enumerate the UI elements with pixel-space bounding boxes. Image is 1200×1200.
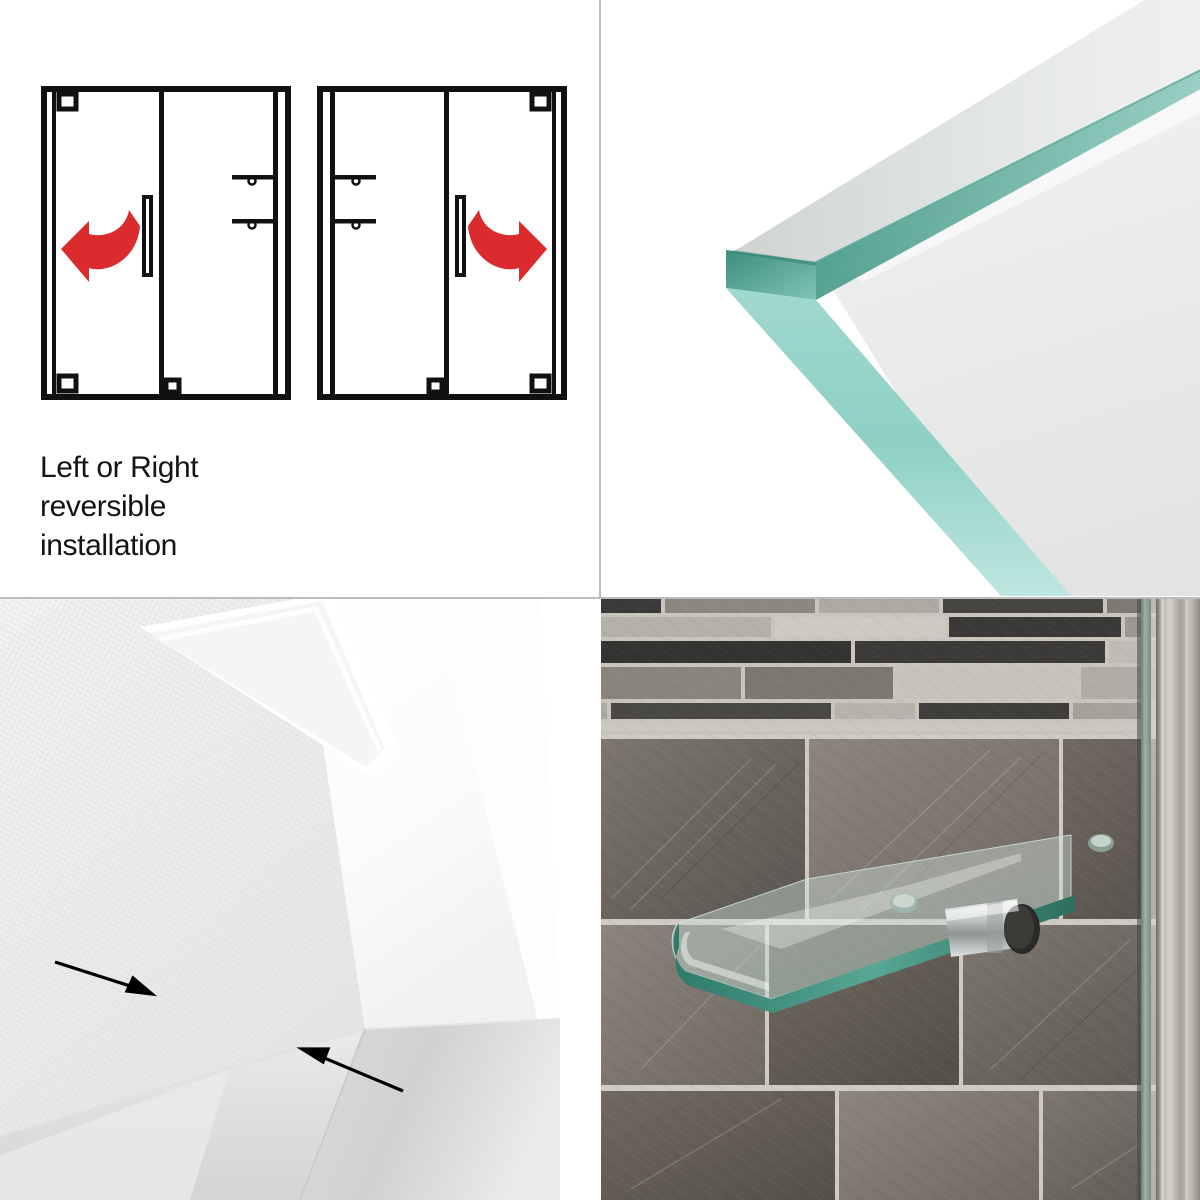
panel-glass-shelves: 2 Clear Glass Shelves [601,599,1200,1200]
glass-sheet-svg [601,0,1200,596]
swing-arrow-right [468,210,547,282]
divider-vertical [599,0,601,599]
panel-threshold-size: Threshold size requirement: min. 7/8 in [0,599,598,1200]
shower-base-svg [0,599,598,1200]
divider-horizontal [0,597,1200,599]
mosaic-accent-band [601,599,1200,735]
diagram-left-hand-door [33,84,295,402]
door-diagram-svg-left [33,84,295,402]
swing-arrow-left [61,210,140,282]
shower-door-frame [1137,599,1200,1200]
caption-reversible-installation: Left or Right reversible installation [40,448,198,565]
panel-reversible-installation: Left or Right reversible installation [0,0,598,596]
product-feature-collage: Left or Right reversible installation [0,0,1200,1200]
shelf-photo-svg [601,599,1200,1200]
diagram-right-hand-door [313,84,575,402]
panel-tempered-glass: ULTRA G Clear Tempered Glass 10 mm thick [601,0,1200,596]
shower-base-photo [0,599,598,1200]
door-diagram-svg-right [313,84,575,402]
tiled-shower-wall-photo [601,599,1200,1200]
glass-sheet-photo [601,0,1200,596]
